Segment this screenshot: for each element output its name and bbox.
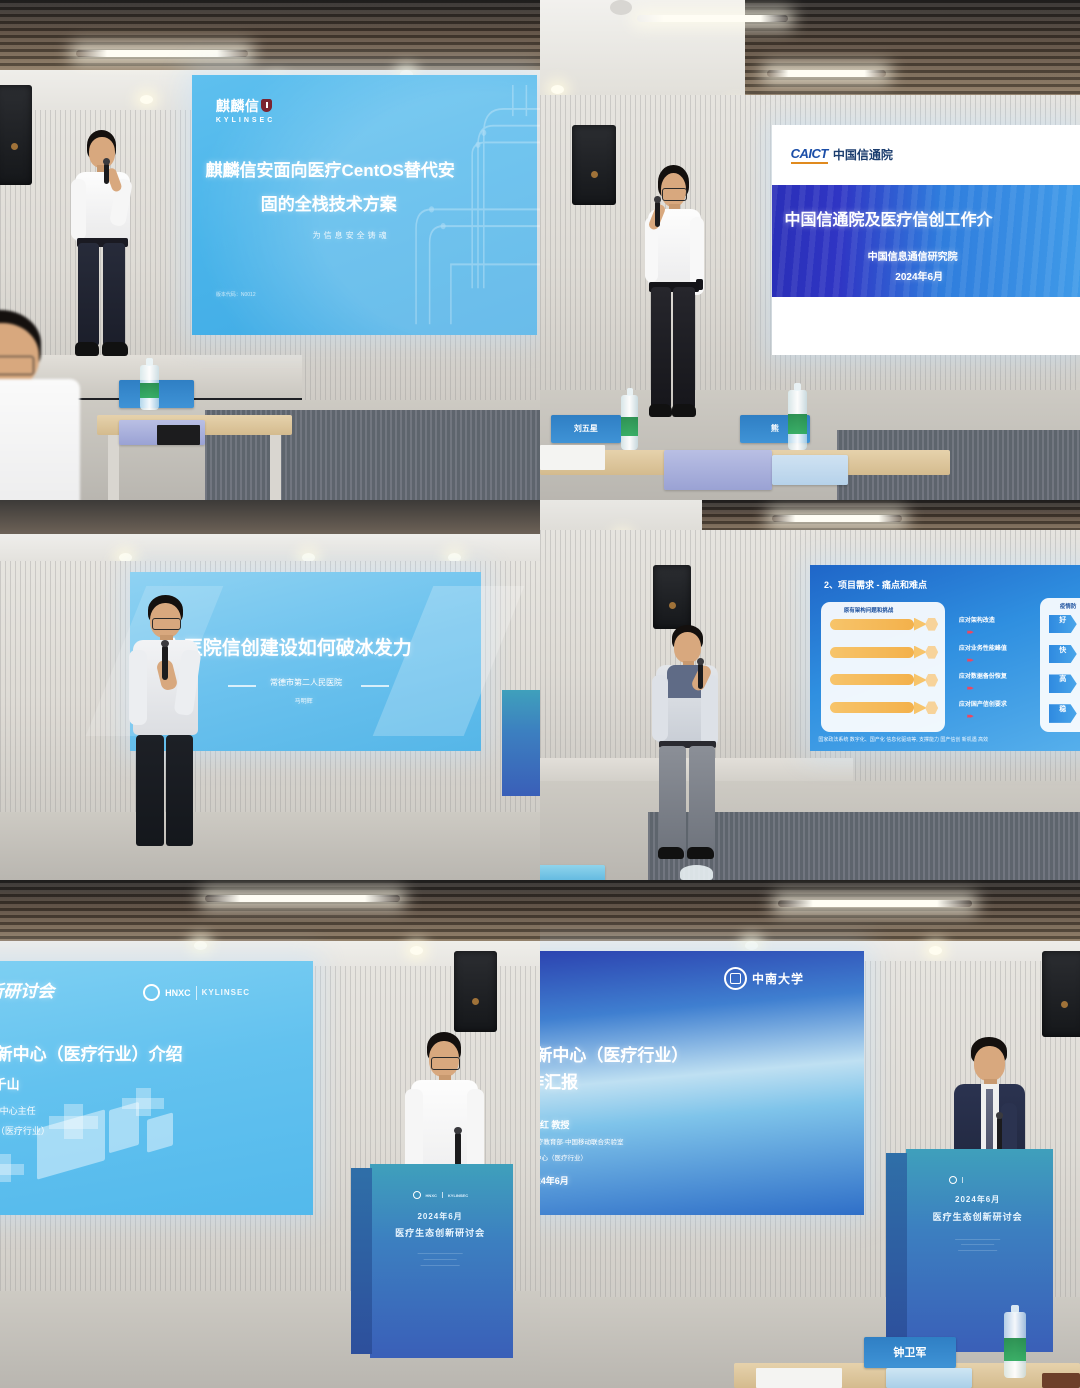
necktie: [986, 1089, 993, 1158]
slide-header: 生态创新研讨会: [0, 982, 54, 1002]
podium-detail: ———————————————————————————————————————: [367, 1251, 513, 1268]
leg-left: [136, 735, 164, 845]
podium-line2: 医疗生态创新研讨会: [902, 1210, 1053, 1223]
hnxc-logo-label: HNXC: [165, 988, 191, 998]
microphone: [162, 645, 168, 680]
slide-date: 2024年6月: [540, 1176, 569, 1186]
caict-logo-cn: 中国信通院: [833, 146, 893, 163]
podium: [502, 690, 540, 796]
ceiling-panel: [540, 500, 702, 534]
strip-light: [772, 515, 902, 522]
left-card-title: 原有架构问题和挑战: [844, 606, 894, 614]
iso-illustration: [109, 1102, 139, 1154]
hnxc-logo: HNXC KYLINSEC: [143, 984, 250, 1001]
ceiling: [0, 500, 540, 534]
leg-right: [689, 746, 716, 852]
room-scene: 生态创新研讨会 HNXC KYLINSEC 业生态创新中心（医疗行业）介绍 史千…: [0, 880, 540, 1388]
csu-seal-icon: [724, 967, 747, 990]
glasses-icon: [0, 356, 34, 375]
arrow-label: 应对业务性能峰值: [959, 643, 1007, 652]
caict-logo-mark: CAICT: [791, 146, 828, 164]
loudspeaker: [454, 951, 497, 1032]
podium: HNXC KYLINSEC 2024年6月 医疗生态创新研讨会 ————————…: [351, 1164, 513, 1357]
ceiling-slats: [0, 0, 540, 70]
slide-subtitle: 为信息安全铸魂: [313, 231, 390, 240]
slide-org: 常德市第二人民医院: [270, 678, 342, 687]
csu-logo: 中南大学: [724, 967, 804, 990]
smoke-detector-icon: [610, 0, 632, 15]
room-scene: 麒麟信 KYLINSEC 麒麟信安面向医疗CentOS替代安 固的全栈技术方案 …: [0, 0, 540, 500]
podium-logo: HNXC KYLINSEC: [413, 1191, 469, 1199]
panel-middle-left: 立医院信创建设如何破冰发力 常德市第二人民医院 马明辉: [0, 500, 540, 880]
kylinsec-logo-cn: 麒麟信: [216, 96, 260, 116]
issue-pill: [830, 674, 914, 685]
water-bottle: [788, 390, 806, 450]
room-scene: 中南大学 业生态创新中心（医疗行业） 工作汇报 黄伟红 教授 中南大学湘雅医院 …: [540, 880, 1080, 1388]
caict-logo: CAICT 中国信通院: [791, 146, 893, 164]
floor: [0, 812, 540, 880]
room-scene: CAICT 中国信通院 中国信通院及医疗信创工作介 中国信息通信研究院 2024…: [540, 0, 1080, 500]
microphone: [655, 201, 660, 227]
leg-right: [166, 735, 194, 845]
issue-pill: [830, 647, 914, 658]
booklet: [540, 865, 605, 880]
cross-decoration: [0, 1164, 24, 1174]
arrow-icon: ▸▸▸: [967, 684, 972, 692]
podium-logo: [949, 1176, 963, 1184]
arm-left: [652, 675, 668, 741]
table-leg: [270, 435, 281, 500]
podium: 2024年6月 医疗生态创新研讨会 ——————————————————————…: [886, 1149, 1053, 1352]
arrow-label: 应对数据备份恢复: [959, 671, 1007, 680]
shirt: [0, 379, 80, 500]
ceiling-slats: [745, 0, 1080, 95]
ceiling-slats: [0, 880, 540, 941]
kylinsec-logo-en: KYLINSEC: [216, 117, 275, 124]
divider: [442, 1192, 443, 1198]
paper-sheet: [756, 1368, 842, 1388]
downlight-icon: [551, 85, 564, 94]
booklet: [886, 1368, 972, 1388]
microphone: [104, 163, 109, 184]
arrow-icon: ▸▸▸: [967, 656, 972, 664]
panel-bottom-left: 生态创新研讨会 HNXC KYLINSEC 业生态创新中心（医疗行业）介绍 史千…: [0, 880, 540, 1388]
panel-bottom-right: 中南大学 业生态创新中心（医疗行业） 工作汇报 黄伟红 教授 中南大学湘雅医院 …: [540, 880, 1080, 1388]
podium-logo-right: KYLINSEC: [448, 1193, 468, 1198]
podium-line1: 2024年6月: [902, 1194, 1053, 1205]
strip-light: [767, 70, 886, 77]
slide-title: 中国信通院及医疗信创工作介: [784, 212, 992, 230]
water-bottle: [140, 365, 159, 410]
gear-icon: [143, 984, 160, 1001]
projection-screen: 中南大学 业生态创新中心（医疗行业） 工作汇报 黄伟红 教授 中南大学湘雅医院 …: [540, 951, 864, 1215]
water-bottle: [680, 865, 712, 880]
loudspeaker: [1042, 951, 1080, 1037]
podium-logo-left: HNXC: [426, 1193, 437, 1198]
iso-illustration: [147, 1112, 173, 1153]
presenter-person: [637, 165, 713, 425]
presenter-person: [648, 625, 729, 861]
slide-title: 业生态创新中心（医疗行业）介绍: [0, 1045, 183, 1065]
loudspeaker: [0, 85, 32, 185]
slide-speaker: 史千山: [0, 1078, 20, 1093]
shoe-left: [649, 404, 672, 417]
right-card-title: 疫情防: [1060, 602, 1077, 610]
photo-collage: 麒麟信 KYLINSEC 麒麟信安面向医疗CentOS替代安 固的全栈技术方案 …: [0, 0, 1080, 1388]
screen-frame: [540, 946, 869, 1220]
table-leg: [108, 435, 119, 500]
head: [974, 1046, 1005, 1081]
podium-detail: ———————————————————————————————————————: [902, 1237, 1053, 1254]
shield-icon: [261, 99, 272, 112]
gear-icon: [949, 1176, 957, 1184]
slide-speaker: 马明辉: [295, 699, 313, 706]
loudspeaker: [653, 565, 691, 630]
podium-face: [502, 690, 540, 796]
presenter-person: [124, 595, 210, 846]
ceiling-slats: [540, 880, 1080, 941]
panel-middle-right: 2、项目需求 - 痛点和难点 原有架构问题和挑战 应对架构改造 ▸▸▸ 应对业务…: [540, 500, 1080, 880]
water-bottle: [621, 395, 638, 450]
tablet-device: [157, 425, 200, 445]
document-folder: [664, 450, 772, 490]
kylinsec-logo: 麒麟信 KYLINSEC: [216, 96, 275, 124]
arrow-label: 应对国产信创要求: [959, 699, 1007, 708]
leg-left: [651, 287, 671, 409]
panel-top-left: 麒麟信 KYLINSEC 麒麟信安面向医疗CentOS替代安 固的全栈技术方案 …: [0, 0, 540, 500]
slide-date: 2024年6月: [895, 272, 943, 284]
arm-left: [129, 650, 146, 725]
arrow-label: 应对架构改造: [959, 615, 995, 624]
strip-light: [637, 15, 788, 22]
nameplate: 刘五星: [551, 415, 621, 443]
paper-sheet: [540, 445, 605, 470]
glasses-icon: [662, 188, 687, 200]
arrow-icon: ▸▸▸: [967, 712, 972, 720]
strip-light: [76, 50, 249, 57]
microphone: [698, 663, 703, 689]
arrow-icon: ▸▸▸: [967, 628, 972, 636]
arm-left: [71, 179, 86, 240]
slide-footnote: 版本代码：N0012: [216, 293, 256, 299]
divider: [196, 986, 197, 1000]
slide-footer: 国家政法系统 数字化、国产化 信息化驱动等, 支撑能力 国产信创 新机遇 高效: [818, 736, 988, 743]
water-bottle: [1004, 1312, 1026, 1378]
strip-light: [205, 895, 399, 902]
projection-screen: 麒麟信 KYLINSEC 麒麟信安面向医疗CentOS替代安 固的全栈技术方案 …: [192, 75, 538, 335]
rule-right: [361, 685, 389, 687]
panel-top-right: CAICT 中国信通院 中国信通院及医疗信创工作介 中国信息通信研究院 2024…: [540, 0, 1080, 500]
downlight-icon: [929, 946, 942, 955]
gear-icon: [413, 1191, 421, 1199]
csu-logo-cn: 中南大学: [752, 970, 804, 987]
shoe-right: [672, 404, 696, 417]
booklet: [772, 455, 848, 485]
projection-screen: 2、项目需求 - 痛点和难点 原有架构问题和挑战 应对架构改造 ▸▸▸ 应对业务…: [810, 565, 1080, 751]
slide-role-1: 省卫健委信息统计中心主任: [0, 1106, 36, 1116]
slide-title-line2: 固的全栈技术方案: [261, 195, 397, 215]
room-scene: 立医院信创建设如何破冰发力 常德市第二人民医院 马明辉: [0, 500, 540, 880]
glasses-icon: [431, 1057, 461, 1070]
podium-line2: 医疗生态创新研讨会: [367, 1226, 513, 1239]
kylinsec-logo-label: KYLINSEC: [202, 988, 250, 997]
slide-title-line1: 麒麟信安面向医疗CentOS替代安: [206, 161, 455, 181]
projection-screen: 生态创新研讨会 HNXC KYLINSEC 业生态创新中心（医疗行业）介绍 史千…: [0, 961, 313, 1215]
divider: [962, 1177, 963, 1183]
issue-pill: [830, 702, 914, 713]
strip-light: [778, 900, 972, 907]
rule-left: [228, 685, 256, 687]
wooden-object: [1042, 1373, 1080, 1388]
leg-left: [659, 746, 686, 852]
slide-org: 中国信息通信研究院: [868, 252, 958, 264]
slide-title: 2、项目需求 - 痛点和难点: [824, 578, 927, 591]
shoe-right: [687, 847, 715, 859]
glasses-icon: [152, 618, 182, 630]
slide-affil-1: 中南大学湘雅医院 移动医疗教育部·中国移动联合实验室: [540, 1139, 624, 1146]
leg-right: [673, 287, 695, 409]
podium-line1: 2024年6月: [367, 1211, 513, 1222]
slide-speaker: 黄伟红 教授: [540, 1120, 569, 1130]
room-scene: 2、项目需求 - 痛点和难点 原有架构问题和挑战 应对架构改造 ▸▸▸ 应对业务…: [540, 500, 1080, 880]
shoe-left: [658, 847, 684, 859]
slide-title-line1: 业生态创新中心（医疗行业）: [540, 1046, 688, 1066]
nameplate: 钟卫军: [864, 1337, 956, 1367]
loudspeaker: [572, 125, 615, 205]
head: [89, 137, 115, 168]
issue-pill: [830, 619, 914, 630]
slide-affil-2: 湖南省计算产业生态创新中心（医疗行业）: [540, 1155, 587, 1162]
projection-screen: CAICT 中国信通院 中国信通院及医疗信创工作介 中国信息通信研究院 2024…: [772, 125, 1080, 355]
slide-title-line2: 工作汇报: [540, 1073, 578, 1093]
iso-illustration: [37, 1109, 105, 1179]
